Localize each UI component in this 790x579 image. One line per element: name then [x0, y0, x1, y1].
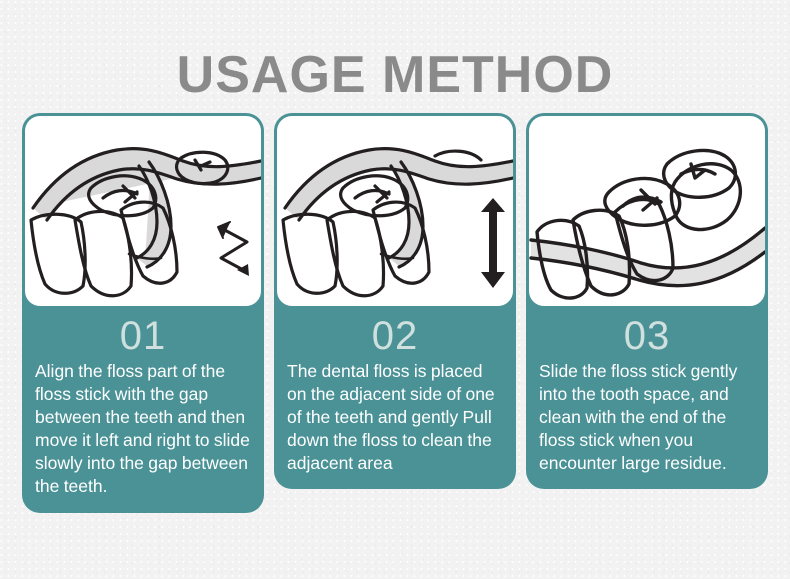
step-number-02: 02 [277, 316, 513, 356]
step-number-03: 03 [529, 316, 765, 356]
step-figure-01 [25, 116, 261, 306]
step-description-01: Align the floss part of the floss stick … [25, 360, 261, 499]
usage-steps-container: 01 Align the floss part of the floss sti… [22, 113, 768, 513]
page-title: USAGE METHOD [0, 47, 790, 104]
step-figure-02 [277, 116, 513, 306]
step-figure-03 [529, 116, 765, 306]
zigzag-arrow-icon [218, 221, 249, 276]
step-description-03: Slide the floss stick gently into the to… [529, 360, 765, 475]
usage-step-card-01: 01 Align the floss part of the floss sti… [22, 113, 264, 513]
step-description-02: The dental floss is placed on the adjace… [277, 360, 513, 475]
usage-step-card-02: 02 The dental floss is placed on the adj… [274, 113, 516, 489]
usage-step-card-03: 03 Slide the floss stick gently into the… [526, 113, 768, 489]
step-number-01: 01 [25, 316, 261, 356]
vertical-double-arrow-icon [481, 198, 505, 288]
